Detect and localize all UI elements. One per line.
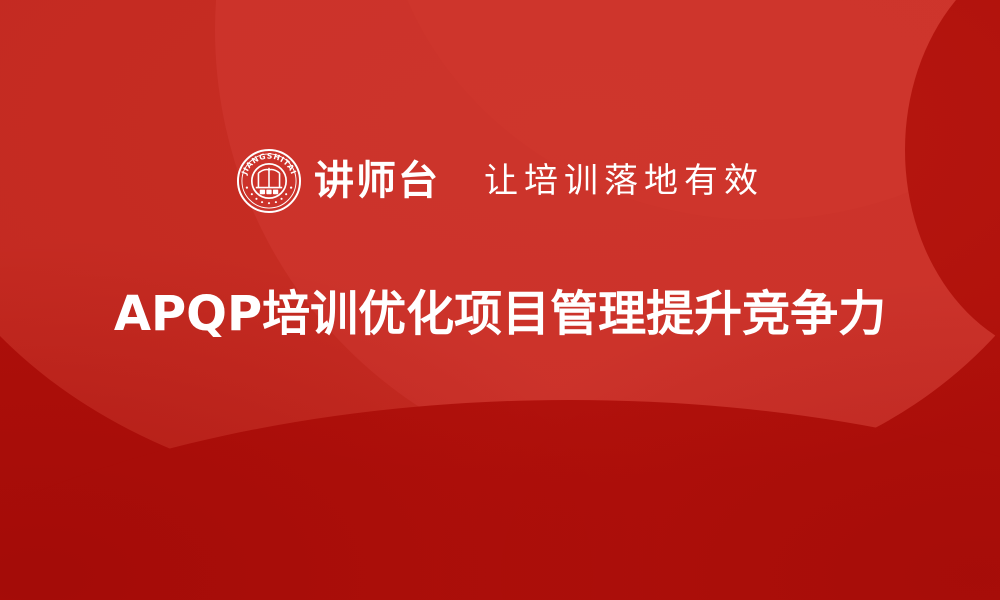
brand-name: 讲师台 bbox=[314, 161, 440, 201]
brand-tagline: 让培训落地有效 bbox=[484, 164, 764, 198]
promo-banner-canvas: JIANGSHITAI bbox=[0, 0, 1000, 600]
jiangshitai-seal-icon: JIANGSHITAI bbox=[236, 148, 302, 214]
banner-content: JIANGSHITAI bbox=[0, 0, 1000, 600]
page-title: APQP培训优化项目管理提升竞争力 bbox=[0, 288, 1000, 341]
brand-lockup: JIANGSHITAI bbox=[0, 148, 1000, 214]
